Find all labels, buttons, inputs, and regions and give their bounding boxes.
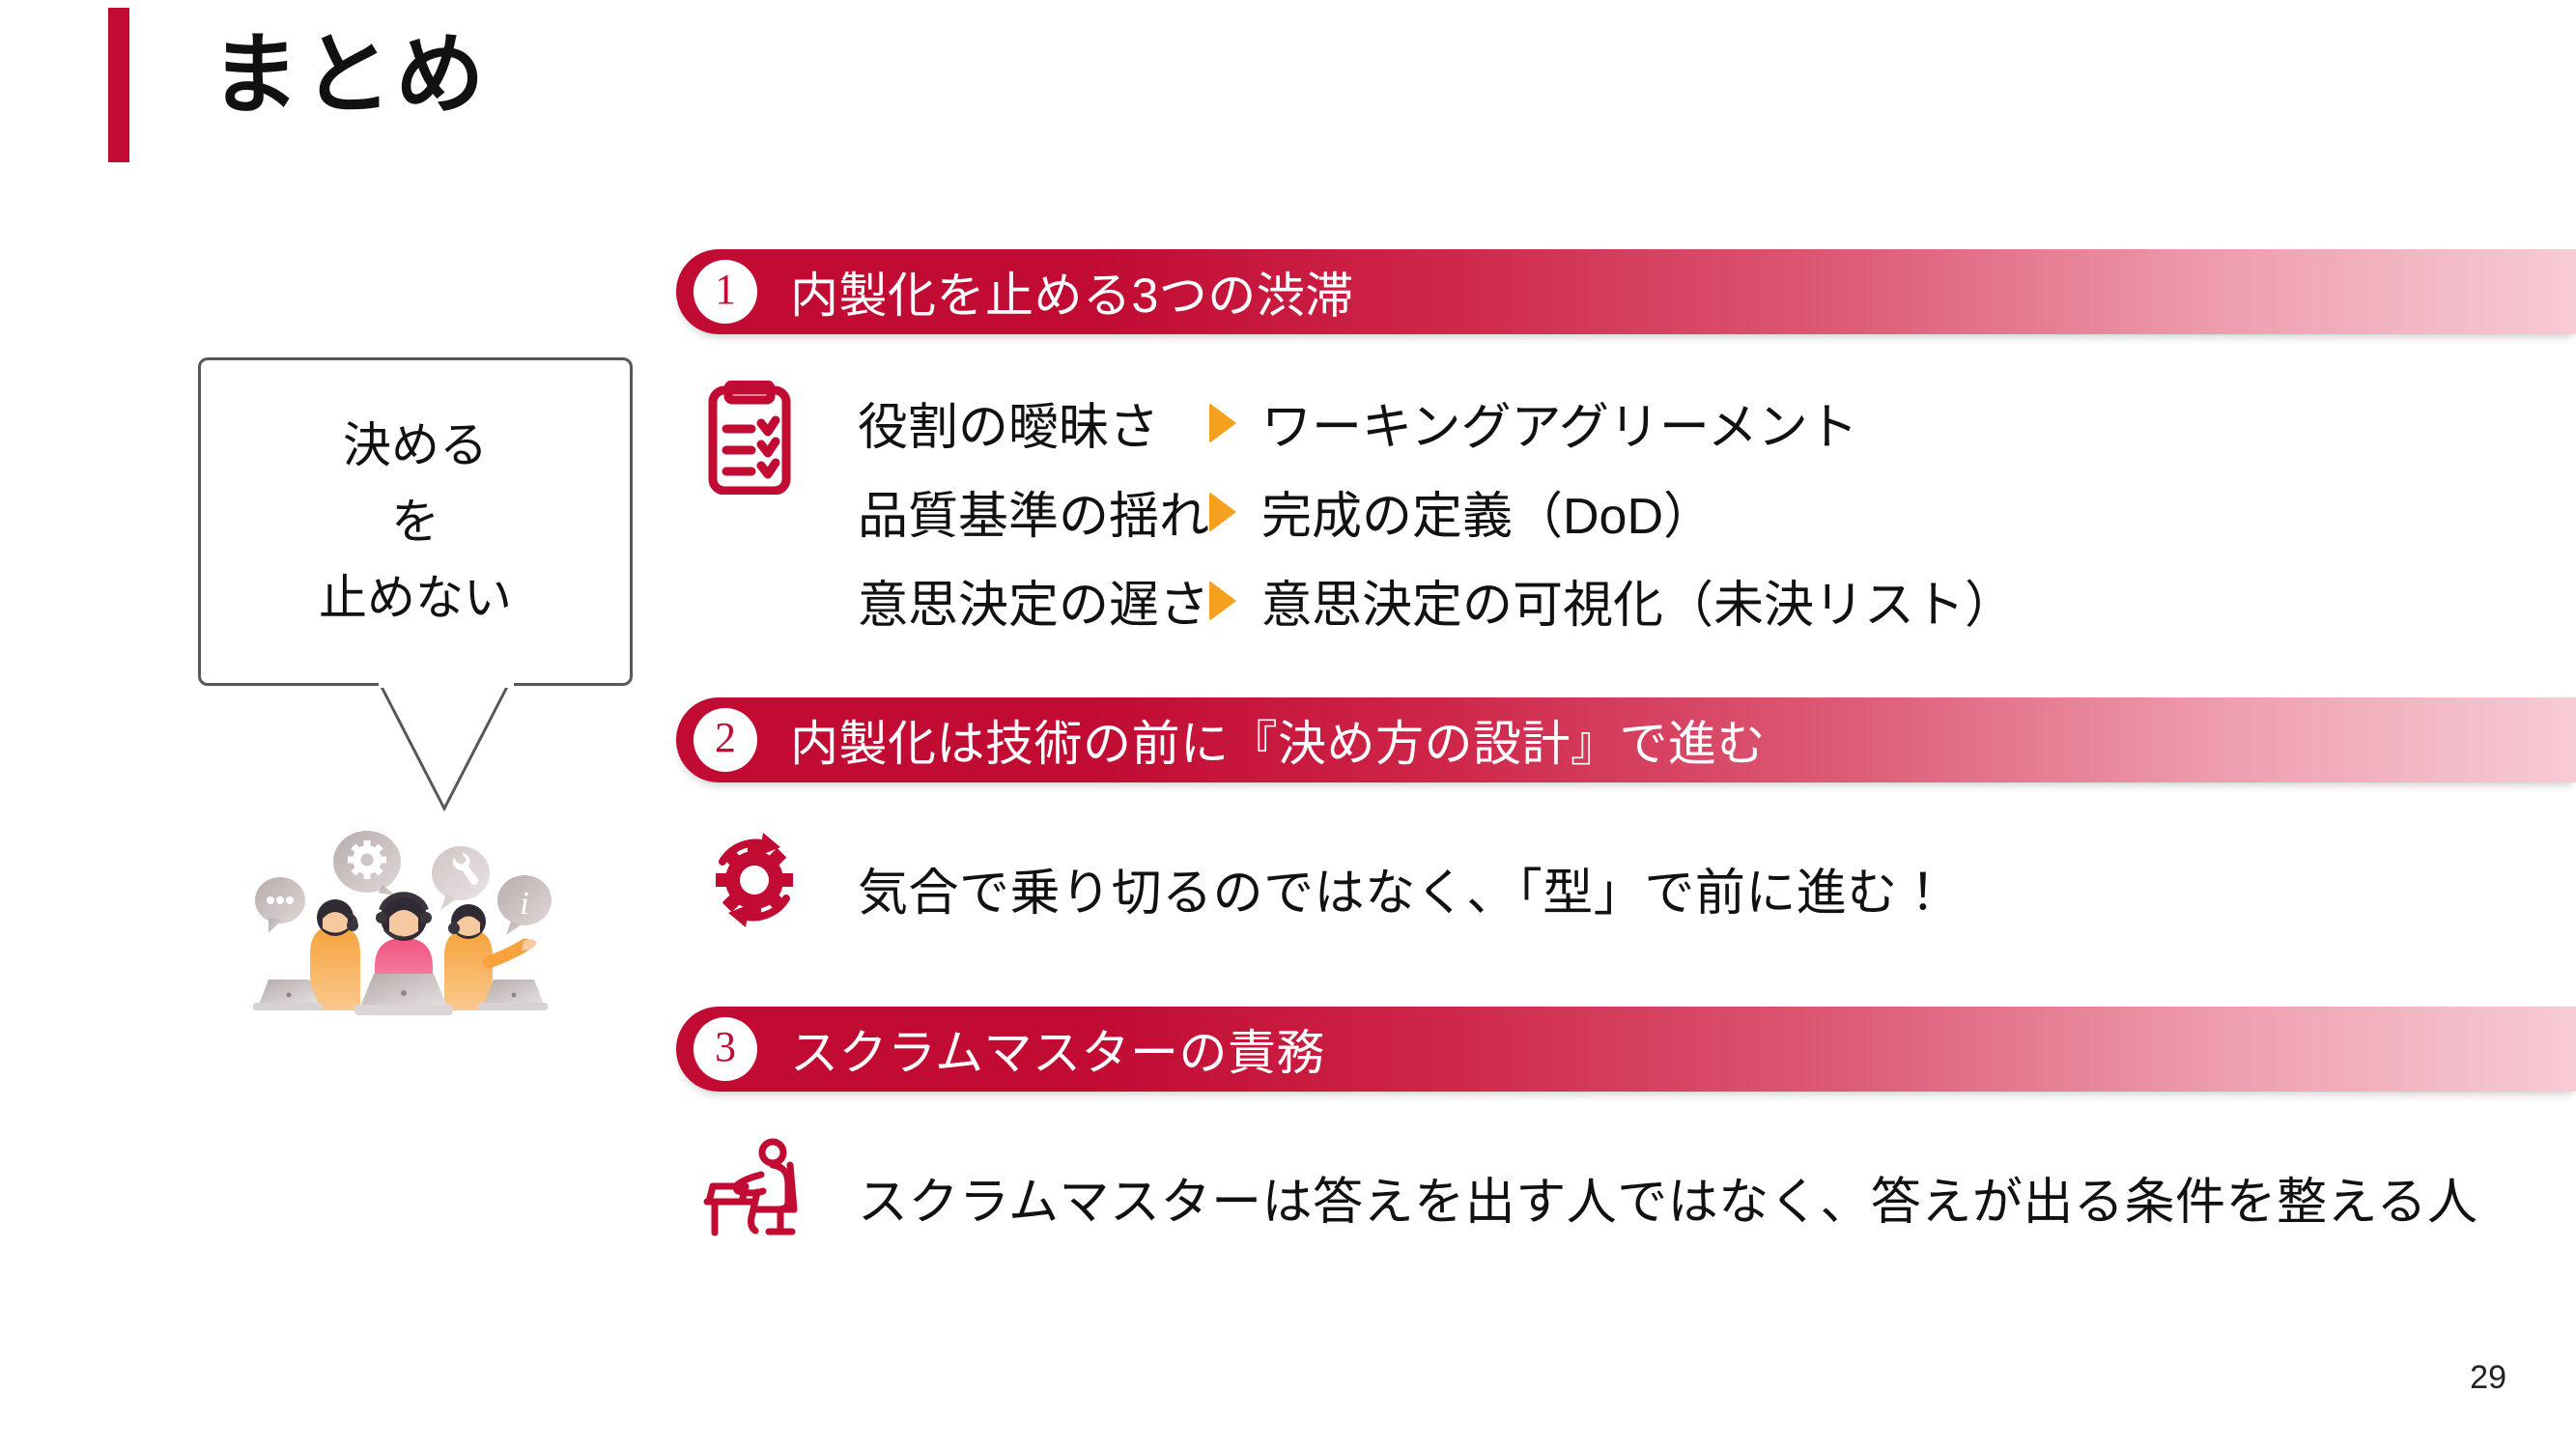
section-band-1: 1 内製化を止める3つの渋滞 bbox=[676, 249, 2576, 334]
section-number-1: 1 bbox=[694, 260, 757, 324]
problem-solution-row-2: 品質基準の揺れ 完成の定義（DoD） bbox=[858, 475, 1713, 548]
gear-cycle-icon bbox=[703, 829, 806, 931]
section-title-3: スクラムマスターの責務 bbox=[790, 1014, 1325, 1084]
problem-label-2: 品質基準の揺れ bbox=[858, 475, 1205, 548]
callout-bubble: 決める を 止めない bbox=[198, 357, 633, 686]
section-number-3: 3 bbox=[694, 1017, 757, 1081]
problem-label-3: 意思決定の遅さ bbox=[858, 564, 1205, 637]
bubble-gear-icon bbox=[333, 831, 401, 896]
bubble-ellipsis-icon bbox=[255, 877, 305, 933]
solution-label-2: 完成の定義（DoD） bbox=[1261, 475, 1713, 548]
section-body-3: スクラムマスターは答えを出す人ではなく、答えが出る条件を整える人 bbox=[858, 1161, 2478, 1234]
bubble-info-icon: i bbox=[497, 875, 552, 935]
title-accent-bar bbox=[108, 8, 129, 162]
callout-line-2: を bbox=[391, 484, 439, 560]
problem-label-1: 役割の曖昧さ bbox=[858, 386, 1205, 459]
arrow-triangle-icon bbox=[1209, 492, 1236, 532]
section-band-2: 2 内製化は技術の前に『決め方の設計』で進む bbox=[676, 697, 2576, 782]
person-at-desk-icon bbox=[703, 1136, 804, 1236]
callout-line-3: 止めない bbox=[319, 560, 512, 637]
slide-canvas: まとめ 決める を 止めない bbox=[0, 0, 2576, 1449]
problem-solution-row-3: 意思決定の遅さ 意思決定の可視化（未決リスト） bbox=[858, 564, 2015, 637]
callout-tail bbox=[379, 683, 514, 813]
section-body-2: 気合で乗り切るのではなく、「型」で前に進む！ bbox=[858, 852, 1948, 924]
page-title: まとめ bbox=[211, 27, 488, 125]
svg-text:i: i bbox=[520, 886, 528, 922]
arrow-triangle-icon bbox=[1209, 581, 1236, 621]
laptop-center bbox=[354, 974, 453, 1015]
problem-solution-row-1: 役割の曖昧さ ワーキングアグリーメント bbox=[858, 386, 1858, 459]
arrow-triangle-icon bbox=[1209, 403, 1236, 443]
section-band-3: 3 スクラムマスターの責務 bbox=[676, 1007, 2576, 1092]
bubble-wrench-icon bbox=[432, 846, 490, 910]
solution-label-3: 意思決定の可視化（未決リスト） bbox=[1261, 564, 2015, 637]
section-number-2: 2 bbox=[694, 708, 757, 772]
page-number: 29 bbox=[2470, 1359, 2506, 1397]
support-team-illustration: i bbox=[240, 810, 568, 1017]
section-title-1: 内製化を止める3つの渋滞 bbox=[790, 257, 1354, 327]
clipboard-checklist-icon bbox=[705, 381, 794, 495]
section-title-2: 内製化は技術の前に『決め方の設計』で進む bbox=[790, 705, 1766, 775]
callout-line-1: 決める bbox=[343, 408, 488, 484]
solution-label-1: ワーキングアグリーメント bbox=[1261, 386, 1858, 459]
person-left bbox=[310, 899, 360, 1010]
